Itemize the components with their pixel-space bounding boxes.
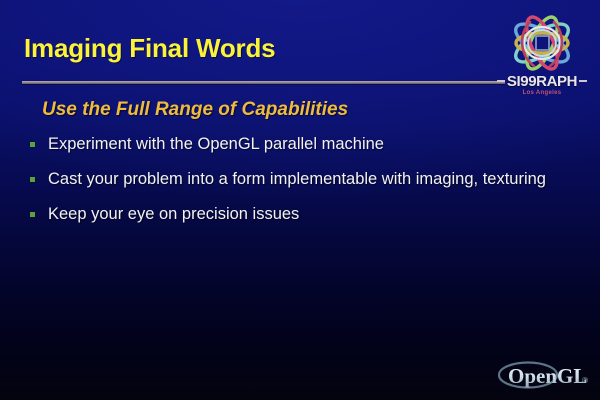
list-item: Keep your eye on precision issues: [30, 203, 570, 226]
presentation-slide: Imaging Final Words Use the Full Range o…: [0, 0, 600, 400]
bullet-square-icon: [30, 177, 35, 182]
bullet-square-icon: [30, 212, 35, 217]
list-item-text: Experiment with the OpenGL parallel mach…: [48, 133, 570, 156]
list-item-text: Keep your eye on precision issues: [48, 203, 570, 226]
siggraph-logo: SI99RAPH Los Angeles: [490, 8, 594, 104]
slide-subtitle: Use the Full Range of Capabilities: [42, 99, 348, 121]
siggraph-wordmark-text: SI99RAPH: [507, 73, 577, 90]
wordmark-dash-right: [579, 80, 587, 82]
siggraph-city-label: Los Angeles: [490, 90, 594, 96]
list-item: Cast your problem into a form implementa…: [30, 168, 570, 191]
siggraph-rings-icon: [490, 8, 594, 78]
svg-text:®: ®: [582, 376, 588, 385]
list-item: Experiment with the OpenGL parallel mach…: [30, 133, 570, 156]
siggraph-wordmark-row: SI99RAPH: [490, 74, 594, 89]
list-item-text: Cast your problem into a form implementa…: [48, 168, 570, 191]
bullet-list: Experiment with the OpenGL parallel mach…: [30, 133, 570, 238]
title-divider-rule: [22, 81, 505, 84]
bullet-square-icon: [30, 142, 35, 147]
svg-text:OpenGL: OpenGL: [508, 364, 587, 388]
slide-title: Imaging Final Words: [24, 33, 275, 64]
opengl-logo-icon: OpenGL ®: [498, 358, 592, 392]
wordmark-dash-left: [497, 80, 505, 82]
opengl-logo: OpenGL ®: [498, 358, 592, 392]
